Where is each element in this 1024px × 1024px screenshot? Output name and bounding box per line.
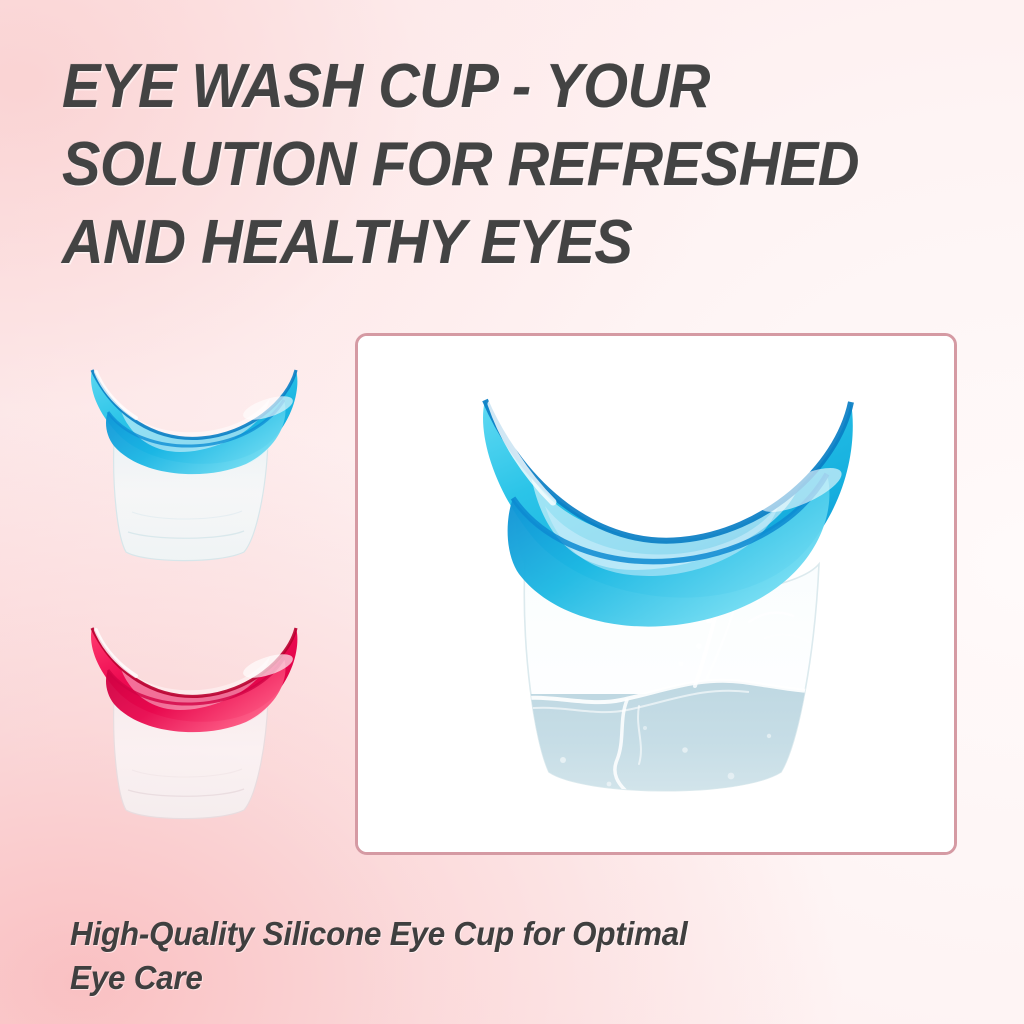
- product-image-blue-eye-cup: [52, 342, 314, 574]
- caption: High-Quality Silicone Eye Cup for Optima…: [70, 912, 930, 1000]
- caption-line-2: Eye Care: [70, 956, 887, 1000]
- caption-line-1: High-Quality Silicone Eye Cup for Optima…: [70, 912, 887, 956]
- headline-line-3: AND HEALTHY EYES: [62, 204, 918, 282]
- page-title: EYE WASH CUP - YOUR SOLUTION FOR REFRESH…: [62, 48, 982, 282]
- hero-product-photo: [358, 336, 954, 852]
- headline-line-1: EYE WASH CUP - YOUR: [62, 48, 918, 126]
- headline-line-2: SOLUTION FOR REFRESHED: [62, 126, 918, 204]
- water-fill: [503, 681, 833, 834]
- product-image-red-eye-cup: [52, 600, 314, 832]
- hero-blue-eye-cup-with-water: [413, 364, 905, 834]
- hero-product-photo-frame: [355, 333, 957, 855]
